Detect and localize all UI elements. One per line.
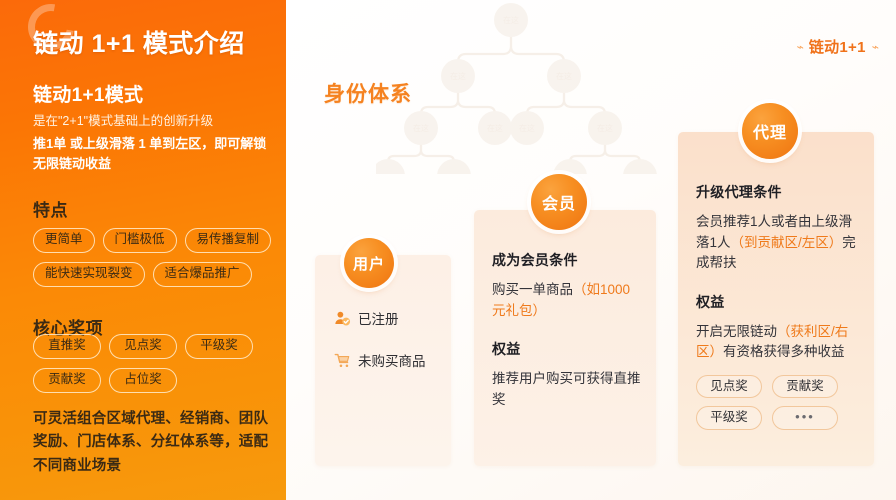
mode-heading: 链动1+1模式 (33, 80, 267, 107)
page-title: 链动 1+1 模式介绍 (33, 24, 245, 60)
member-benefit-title: 权益 (492, 339, 642, 359)
feature-tag[interactable]: 更简单 (33, 228, 95, 253)
card-member-content: 成为会员条件 购买一单商品（如1000元礼包） 权益 推荐用户购买可获得直推奖 (492, 250, 642, 410)
shopping-cart-icon (334, 352, 351, 369)
agent-benefit-tag[interactable]: 平级奖 (696, 406, 762, 430)
feature-tag[interactable]: 适合爆品推广 (153, 262, 252, 287)
user-registered-label: 已注册 (358, 308, 399, 328)
feature-tag-row-2: 能快速实现裂变 适合爆品推广 (33, 262, 252, 287)
agent-benefit-tag[interactable]: 贡献奖 (772, 375, 838, 398)
badge-user: 用户 (344, 238, 394, 288)
user-registered-row: 已注册 (334, 308, 444, 328)
award-tag-row-2: 贡献奖 占位奖 (33, 368, 177, 393)
agent-condition-highlight: （到贡献区/左区） (731, 235, 843, 250)
user-check-icon (334, 310, 351, 327)
brand-label: 链动1+1 (809, 36, 866, 57)
svg-text:在这: 在这 (450, 71, 466, 81)
ornament-right-icon: ⌁ (872, 40, 878, 54)
member-benefit-text: 推荐用户购买可获得直推奖 (492, 369, 642, 410)
brand-badge: ⌁ 链动1+1 ⌁ (797, 36, 878, 57)
svg-text:在这: 在这 (556, 71, 572, 81)
svg-text:在这: 在这 (487, 123, 503, 133)
agent-benefit-tags: 见点奖 贡献奖 平级奖 ••• (696, 375, 860, 430)
mode-subtitle-secondary: 推1单 或上级滑落 1 单到左区，即可解锁无限链动收益 (33, 134, 271, 174)
award-tag-row-1: 直推奖 见点奖 平级奖 (33, 334, 253, 359)
agent-benefit-tag[interactable]: 见点奖 (696, 375, 762, 398)
card-user-content: 已注册 未购买商品 (334, 308, 444, 392)
agent-benefit-title: 权益 (696, 292, 860, 312)
tree-node-labels: 在这 在这 在这 在这 在这 在这 在这 (413, 15, 613, 133)
section-title: 身份体系 (324, 78, 412, 108)
award-tag[interactable]: 直推奖 (33, 334, 101, 359)
award-tag[interactable]: 平级奖 (185, 334, 253, 359)
award-tag[interactable]: 占位奖 (109, 368, 177, 393)
feature-tag-row-1: 更简单 门槛极低 易传播复制 (33, 228, 271, 253)
agent-benefit-part-a: 开启无限链动 (696, 324, 777, 339)
svg-text:在这: 在这 (597, 123, 613, 133)
binary-tree-watermark-icon: 在这 在这 在这 在这 在这 在这 在这 (376, 0, 706, 174)
badge-agent: 代理 (742, 103, 798, 159)
feature-section-title: 特点 (33, 196, 267, 221)
agent-benefit-text: 开启无限链动（获利区/右区）有资格获得多种收益 (696, 322, 860, 363)
ornament-left-icon: ⌁ (797, 40, 803, 54)
badge-member: 会员 (531, 174, 587, 230)
member-condition-title: 成为会员条件 (492, 250, 642, 270)
card-agent-content: 升级代理条件 会员推荐1人或者由上级滑落1人（到贡献区/左区）完成帮扶 权益 开… (696, 182, 860, 430)
mode-subtitle-primary: 是在"2+1"模式基础上的创新升级 (33, 112, 267, 130)
agent-benefit-more-tag[interactable]: ••• (772, 406, 838, 430)
agent-condition-text: 会员推荐1人或者由上级滑落1人（到贡献区/左区）完成帮扶 (696, 212, 860, 274)
svg-text:在这: 在这 (503, 15, 519, 25)
member-condition-text: 购买一单商品（如1000元礼包） (492, 280, 642, 321)
agent-condition-title: 升级代理条件 (696, 182, 860, 202)
user-not-purchased-row: 未购买商品 (334, 350, 444, 370)
award-tag[interactable]: 见点奖 (109, 334, 177, 359)
user-not-purchased-label: 未购买商品 (358, 350, 426, 370)
svg-text:在这: 在这 (413, 123, 429, 133)
feature-tag[interactable]: 能快速实现裂变 (33, 262, 145, 287)
award-tag[interactable]: 贡献奖 (33, 368, 101, 393)
svg-text:在这: 在这 (519, 123, 535, 133)
left-panel-footer-text: 可灵活组合区域代理、经销商、团队奖励、门店体系、分红体系等，适配不同商业场景 (33, 408, 273, 478)
feature-tag[interactable]: 门槛极低 (103, 228, 177, 253)
infographic-root: 链动 1+1 模式介绍 链动1+1模式 是在"2+1"模式基础上的创新升级 推1… (0, 0, 896, 500)
feature-tag[interactable]: 易传播复制 (185, 228, 272, 253)
right-panel: 在这 在这 在这 在这 在这 在这 在这 身份体系 ⌁ 链动1+1 ⌁ 用户 (286, 0, 896, 500)
left-panel: 链动 1+1 模式介绍 链动1+1模式 是在"2+1"模式基础上的创新升级 推1… (0, 0, 286, 500)
agent-benefit-part-b: 有资格获得多种收益 (723, 344, 845, 359)
member-condition-main: 购买一单商品 (492, 282, 573, 297)
